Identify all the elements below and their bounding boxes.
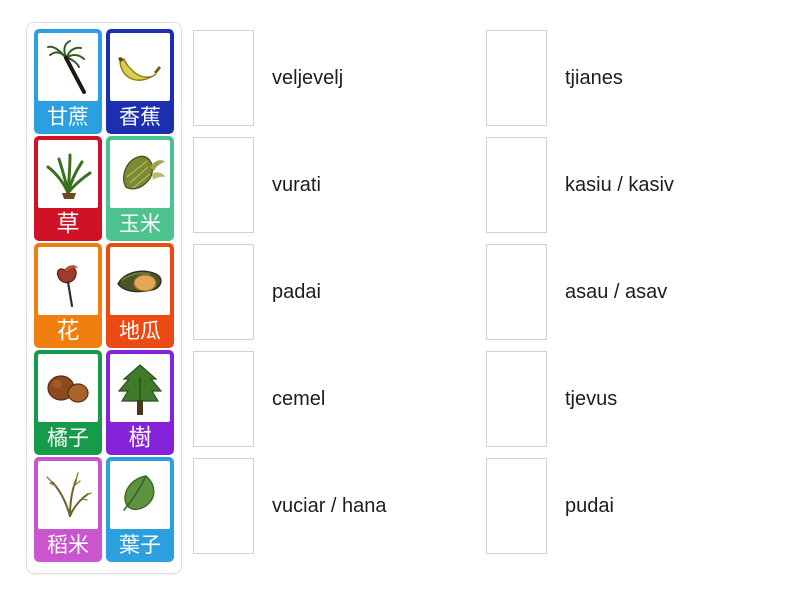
answer-label: tjianes [565,66,623,90]
answer-row: cemel [193,345,493,452]
image-tile[interactable]: 花 [34,243,102,348]
drop-zone-right-2[interactable] [486,137,547,233]
image-tile[interactable]: 玉米 [106,136,174,241]
sugarcane-icon [38,33,98,101]
answer-row: kasiu / kasiv [486,131,786,238]
answer-row: veljevelj [193,24,493,131]
image-tile-label: 花 [38,315,98,348]
image-tile[interactable]: 甘蔗 [34,29,102,134]
flower-icon [38,247,98,315]
image-tile[interactable]: 橘子 [34,350,102,455]
leaf-icon [110,461,170,529]
drop-zone-right-5[interactable] [486,458,547,554]
answer-label: kasiu / kasiv [565,173,674,197]
answer-row: asau / asav [486,238,786,345]
drop-zone-right-1[interactable] [486,30,547,126]
image-tile-label: 樹 [110,422,170,455]
image-tile-label: 橘子 [38,422,98,455]
answer-label: vuciar / hana [272,494,387,518]
image-tile-label: 香蕉 [110,101,170,134]
answer-column-left: veljeveljvuratipadaicemelvuciar / hana [193,24,493,559]
image-tile-panel: 甘蔗香蕉草玉米花地瓜橘子樹稻米葉子 [26,22,182,574]
answer-column-right: tjianeskasiu / kasivasau / asavtjevuspud… [486,24,786,559]
drop-zone-left-2[interactable] [193,137,254,233]
drop-zone-right-4[interactable] [486,351,547,447]
orange-fruit-icon [38,354,98,422]
banana-icon [110,33,170,101]
answer-label: pudai [565,494,614,518]
image-tile[interactable]: 地瓜 [106,243,174,348]
answer-row: vuciar / hana [193,452,493,559]
matching-exercise-stage: 甘蔗香蕉草玉米花地瓜橘子樹稻米葉子 veljeveljvuratipadaice… [0,0,800,600]
grass-icon [38,140,98,208]
answer-row: padai [193,238,493,345]
image-tile-label: 葉子 [110,529,170,562]
image-tile[interactable]: 草 [34,136,102,241]
answer-label: padai [272,280,321,304]
answer-label: veljevelj [272,66,343,90]
rice-plant-icon [38,461,98,529]
answer-label: tjevus [565,387,617,411]
image-tile[interactable]: 葉子 [106,457,174,562]
image-tile-label: 地瓜 [110,315,170,348]
answer-label: asau / asav [565,280,667,304]
image-tile-label: 稻米 [38,529,98,562]
drop-zone-left-1[interactable] [193,30,254,126]
image-tile[interactable]: 香蕉 [106,29,174,134]
image-tile[interactable]: 樹 [106,350,174,455]
drop-zone-right-3[interactable] [486,244,547,340]
sweet-potato-icon [110,247,170,315]
answer-row: pudai [486,452,786,559]
drop-zone-left-4[interactable] [193,351,254,447]
image-tile-label: 甘蔗 [38,101,98,134]
image-tile-label: 草 [38,208,98,241]
image-tile-label: 玉米 [110,208,170,241]
drop-zone-left-5[interactable] [193,458,254,554]
tree-icon [110,354,170,422]
answer-label: vurati [272,173,321,197]
image-tile[interactable]: 稻米 [34,457,102,562]
answer-row: tjianes [486,24,786,131]
answer-label: cemel [272,387,325,411]
corn-icon [110,140,170,208]
answer-row: tjevus [486,345,786,452]
drop-zone-left-3[interactable] [193,244,254,340]
answer-row: vurati [193,131,493,238]
